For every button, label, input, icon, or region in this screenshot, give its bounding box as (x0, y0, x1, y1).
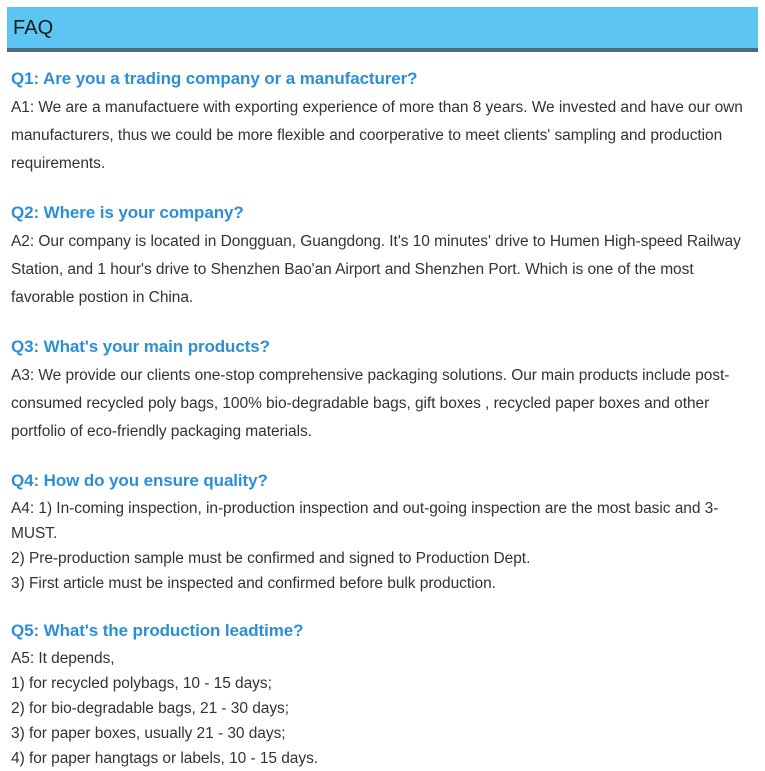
faq-item-q5: Q5: What's the production leadtime? A5: … (11, 618, 753, 771)
faq-answer-line: 1) for recycled polybags, 10 - 15 days; (11, 671, 753, 696)
faq-item-q3: Q3: What's your main products? A3: We pr… (11, 334, 753, 446)
faq-question-q3: Q3: What's your main products? (11, 334, 753, 360)
faq-page: FAQ Q1: Are you a trading company or a m… (0, 0, 765, 748)
faq-header-bar: FAQ (7, 7, 758, 52)
faq-item-q4: Q4: How do you ensure quality? A4: 1) In… (11, 468, 753, 596)
faq-question-q5: Q5: What's the production leadtime? (11, 618, 753, 644)
faq-answer-q1: A1: We are a manufactuere with exporting… (11, 94, 753, 178)
faq-answer-q2: A2: Our company is located in Dongguan, … (11, 228, 753, 312)
faq-answer-q5: A5: It depends,1) for recycled polybags,… (11, 646, 753, 771)
faq-item-q2: Q2: Where is your company? A2: Our compa… (11, 200, 753, 312)
faq-answer-line: 2) Pre-production sample must be confirm… (11, 546, 753, 571)
faq-question-q1: Q1: Are you a trading company or a manuf… (11, 66, 753, 92)
faq-question-q4: Q4: How do you ensure quality? (11, 468, 753, 494)
faq-answer-q3: A3: We provide our clients one-stop comp… (11, 362, 753, 446)
faq-answer-line: A4: 1) In-coming inspection, in-producti… (11, 496, 753, 546)
faq-answer-line: 3) for paper boxes, usually 21 - 30 days… (11, 721, 753, 746)
faq-answer-line: 2) for bio-degradable bags, 21 - 30 days… (11, 696, 753, 721)
faq-answer-q4: A4: 1) In-coming inspection, in-producti… (11, 496, 753, 596)
faq-answer-line: 4) for paper hangtags or labels, 10 - 15… (11, 746, 753, 771)
faq-question-q2: Q2: Where is your company? (11, 200, 753, 226)
page-title: FAQ (7, 18, 53, 38)
faq-item-q1: Q1: Are you a trading company or a manuf… (11, 66, 753, 178)
faq-answer-line: 3) First article must be inspected and c… (11, 571, 753, 596)
faq-answer-line: A5: It depends, (11, 646, 753, 671)
faq-list: Q1: Are you a trading company or a manuf… (11, 66, 753, 771)
